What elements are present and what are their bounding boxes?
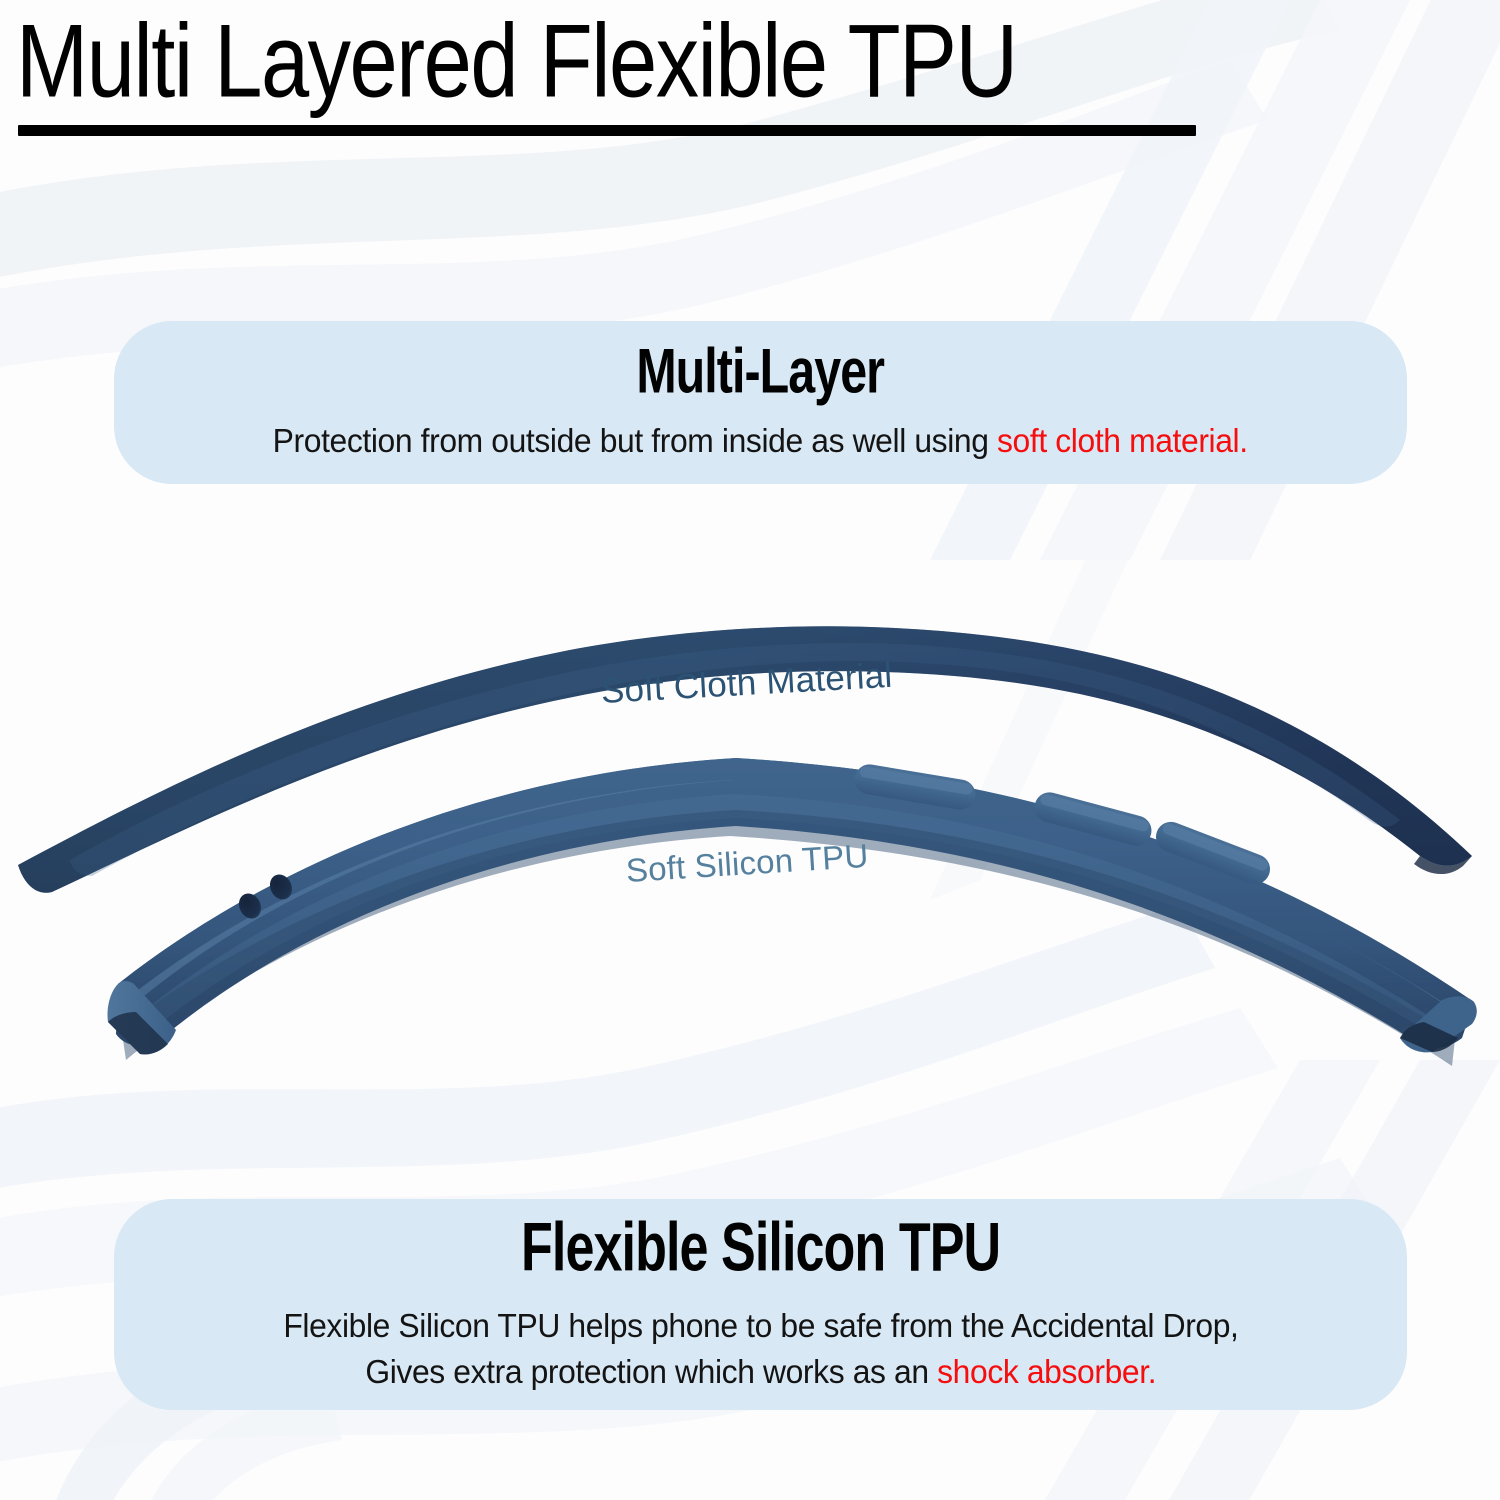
card-flexible-silicon-tpu-body-text-2: Gives extra protection which works as an	[365, 1353, 937, 1390]
infographic-canvas: Multi Layered Flexible TPU Multi-Layer P…	[0, 0, 1500, 1500]
card-multi-layer-body-highlight: soft cloth material.	[997, 422, 1248, 459]
card-flexible-silicon-tpu-body-text-1: Flexible Silicon TPU helps phone to be s…	[283, 1307, 1238, 1344]
card-multi-layer-body: Protection from outside but from inside …	[273, 418, 1248, 464]
card-flexible-silicon-tpu-body-line-2: Gives extra protection which works as an…	[365, 1349, 1156, 1395]
card-multi-layer-body-text: Protection from outside but from inside …	[273, 422, 997, 459]
card-multi-layer: Multi-Layer Protection from outside but …	[114, 321, 1407, 484]
title-block: Multi Layered Flexible TPU	[16, 8, 1216, 98]
card-flexible-silicon-tpu-body-highlight: shock absorber.	[937, 1353, 1156, 1390]
product-layer-soft-silicon-tpu	[107, 756, 1476, 1090]
card-multi-layer-heading: Multi-Layer	[637, 335, 885, 408]
card-flexible-silicon-tpu-heading: Flexible Silicon TPU	[521, 1207, 1000, 1286]
page-title: Multi Layered Flexible TPU	[16, 8, 1198, 114]
card-flexible-silicon-tpu: Flexible Silicon TPU Flexible Silicon TP…	[114, 1199, 1407, 1410]
product-illustration-phone-case-edge	[0, 560, 1500, 1090]
title-underline	[18, 125, 1196, 136]
card-flexible-silicon-tpu-body-line-1: Flexible Silicon TPU helps phone to be s…	[283, 1303, 1238, 1349]
